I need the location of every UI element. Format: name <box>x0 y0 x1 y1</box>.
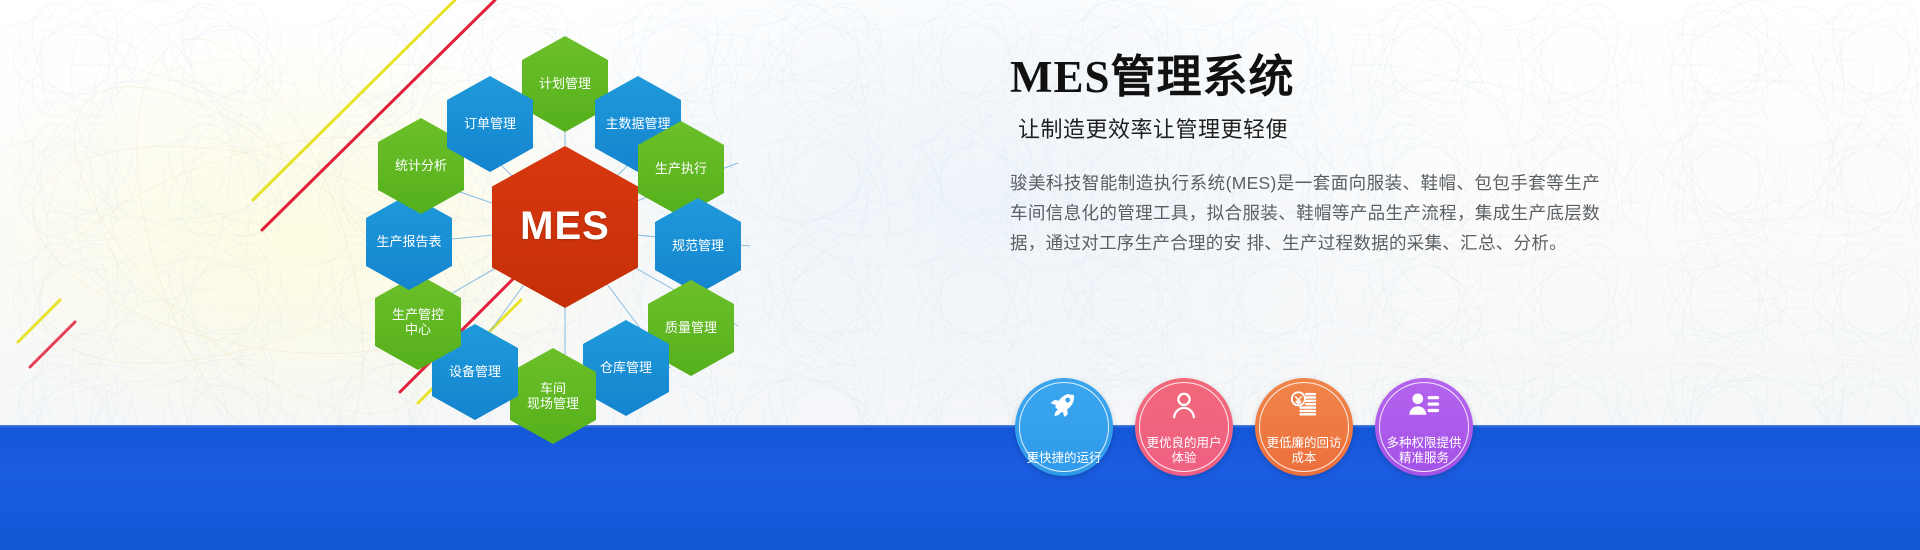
hex-node-label: 规范管理 <box>668 238 728 253</box>
hex-node-label: 车间现场管理 <box>523 381 583 412</box>
hex-node-label: 计划管理 <box>535 76 595 91</box>
hex-node-label: 仓库管理 <box>596 360 656 375</box>
hex-node-label: 主数据管理 <box>601 116 674 131</box>
hex-node-label: 生产管控中心 <box>388 307 448 338</box>
mes-hex-diagram: 计划管理 主数据管理 生产执行 规范管理 质量管理 仓库管理 车间现场管理 设备… <box>330 18 800 438</box>
hex-center-label: MES <box>516 203 614 250</box>
banner-copy: MES管理系统 让制造更效率让管理更轻便 骏美科技智能制造执行系统(MES)是一… <box>1010 55 1600 258</box>
hex-node-label: 生产报告表 <box>372 234 445 249</box>
user-icon <box>1168 389 1200 421</box>
feature-badge-list: 更快捷的运行 更优良的用户体验 <box>1015 378 1473 476</box>
feature-badge-better-user-experience[interactable]: 更优良的用户体验 <box>1135 378 1233 476</box>
mes-banner: 计划管理 主数据管理 生产执行 规范管理 质量管理 仓库管理 车间现场管理 设备… <box>0 0 1920 550</box>
coins-icon <box>1288 389 1320 421</box>
feature-badge-label: 更优良的用户体验 <box>1141 436 1227 467</box>
user-list-icon <box>1408 389 1440 421</box>
hex-node-label: 质量管理 <box>661 320 721 335</box>
feature-badge-multiple-permissions[interactable]: 多种权限提供精准服务 <box>1375 378 1473 476</box>
feature-badge-lower-revisit-cost[interactable]: 更低廉的回访成本 <box>1255 378 1353 476</box>
hex-node-label: 统计分析 <box>391 158 451 173</box>
page-subtitle: 让制造更效率让管理更轻便 <box>1018 112 1600 144</box>
hex-node-label: 设备管理 <box>445 364 505 379</box>
page-title: MES管理系统 <box>1010 55 1600 100</box>
feature-badge-label: 更快捷的运行 <box>1021 451 1107 467</box>
hex-node-label: 订单管理 <box>460 116 520 131</box>
hex-node-label: 生产执行 <box>651 161 711 176</box>
background-bottom-band <box>0 425 1920 550</box>
feature-badge-label: 多种权限提供精准服务 <box>1381 436 1467 467</box>
feature-badge-label: 更低廉的回访成本 <box>1261 436 1347 467</box>
guilloche-pattern <box>0 0 1920 425</box>
rocket-icon <box>1048 389 1080 421</box>
feature-badge-faster-operation[interactable]: 更快捷的运行 <box>1015 378 1113 476</box>
page-description: 骏美科技智能制造执行系统(MES)是一套面向服装、鞋帽、包包手套等生产车间信息化… <box>1010 168 1600 258</box>
